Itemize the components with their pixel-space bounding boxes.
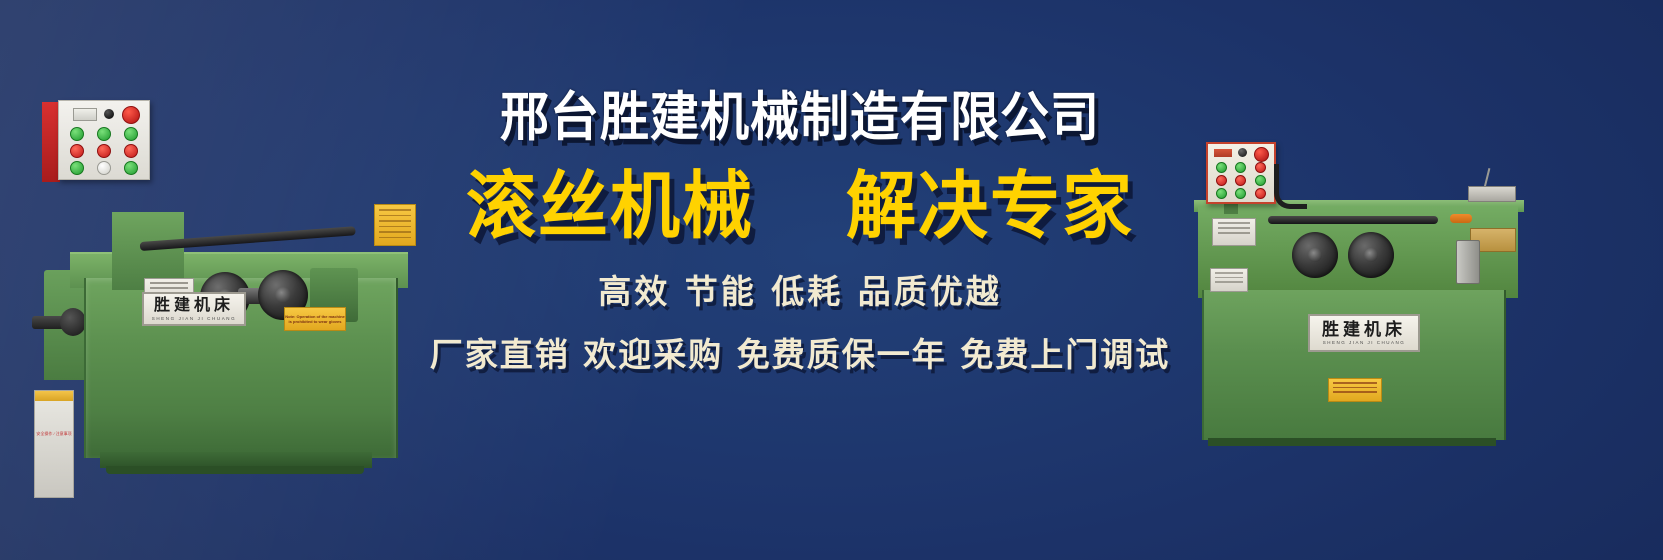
panel-button [124, 161, 138, 175]
panel-button [1255, 175, 1266, 186]
headline-row: 滚丝机械 解决专家 [400, 169, 1200, 239]
machine-right-hose [1274, 164, 1307, 209]
machine-left-foot [106, 466, 364, 474]
panel-button [97, 127, 111, 141]
panel-button [1235, 162, 1246, 173]
machine-right-antenna [1484, 168, 1491, 188]
panel-button [1216, 162, 1227, 173]
machine-left-warning-label: Note: Operation of the machine is prohib… [284, 307, 346, 331]
machine-right-cylinder [1456, 240, 1480, 284]
warning-label-text: Note: Operation of the machine is prohib… [285, 314, 345, 324]
machine-right-roller-die [1348, 232, 1394, 278]
machine-right-orange-fitting [1450, 214, 1472, 223]
nameplate-cn-text: 胜建机床 [154, 298, 234, 314]
panel-knob [1238, 148, 1247, 157]
machine-left-nameplate: 胜建机床 SHENG JIAN JI CHUANG [142, 292, 246, 326]
machine-right-nameplate: 胜建机床 SHENG JIAN JI CHUANG [1308, 314, 1420, 352]
company-name: 邢台胜建机械制造有限公司 [400, 92, 1200, 145]
machine-right-small-plate [1210, 268, 1248, 292]
panel-button [70, 161, 84, 175]
headline-left-text: 滚丝机械 [466, 169, 754, 243]
promo-banner: 胜建机床 SHENG JIAN JI CHUANG Note: Operatio… [0, 0, 1663, 560]
subtitle-line-1: 高效 节能 低耗 品质优越 [400, 265, 1200, 313]
side-cabinet-label: 安全操作 / 注意事项 [35, 429, 73, 439]
machine-left-control-panel [58, 100, 150, 180]
panel-button [70, 127, 84, 141]
panel-display [73, 108, 97, 121]
machine-right-base [1202, 290, 1506, 440]
panel-button [124, 144, 138, 158]
subtitle-line-2: 厂家直销 欢迎采购 免费质保一年 免费上门调试 [400, 328, 1200, 376]
panel-button [97, 161, 111, 175]
nameplate-pinyin-text: SHENG JIAN JI CHUANG [152, 316, 237, 321]
emergency-stop-icon [122, 106, 140, 124]
panel-button [70, 144, 84, 158]
panel-display [1214, 149, 1232, 157]
machine-left-side-cabinet: 安全操作 / 注意事项 [34, 390, 74, 498]
panel-knob [104, 109, 114, 119]
headline-right-text: 解决专家 [846, 169, 1134, 243]
machine-right-control-panel [1206, 142, 1276, 204]
machine-left-shaft-hub [60, 308, 86, 336]
machine-right-foot [1208, 438, 1496, 446]
panel-button-grid [67, 127, 141, 173]
panel-button [124, 127, 138, 141]
machine-right-spec-plate [1212, 218, 1256, 246]
machine-right-tool-head [1468, 186, 1516, 202]
panel-button [1255, 188, 1266, 199]
machine-right-image: 胜建机床 SHENG JIAN JI CHUANG [1168, 120, 1568, 450]
machine-right-top-bar [1268, 216, 1438, 224]
banner-text-block: 邢台胜建机械制造有限公司 滚丝机械 解决专家 高效 节能 低耗 品质优越 厂家直… [400, 92, 1200, 376]
panel-button [1216, 188, 1227, 199]
machine-right-roller-die [1292, 232, 1338, 278]
panel-button [1216, 175, 1227, 186]
panel-button [1235, 175, 1246, 186]
emergency-stop-icon [1254, 147, 1269, 162]
nameplate-cn-text: 胜建机床 [1322, 321, 1406, 338]
panel-button [97, 144, 111, 158]
panel-button [1255, 162, 1266, 173]
panel-button-grid [1214, 162, 1268, 196]
panel-button [1235, 188, 1246, 199]
nameplate-pinyin-text: SHENG JIAN JI CHUANG [1323, 340, 1406, 345]
machine-right-warning-label [1328, 378, 1382, 402]
machine-left-image: 胜建机床 SHENG JIAN JI CHUANG Note: Operatio… [22, 92, 424, 474]
